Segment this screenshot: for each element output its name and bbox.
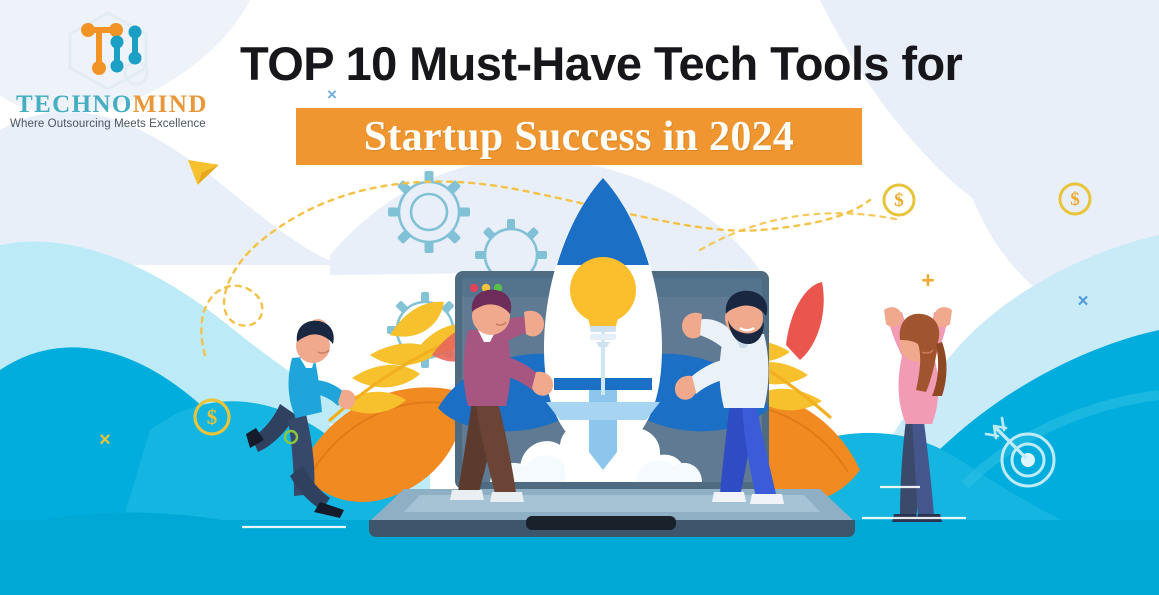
rocket-nose bbox=[557, 178, 649, 265]
headline-banner: Startup Success in 2024 bbox=[296, 108, 862, 165]
laptop-trackpad bbox=[526, 516, 676, 530]
brand-name-part-2: MIND bbox=[133, 91, 208, 118]
brand-name-part-1: TECHNO bbox=[16, 91, 133, 118]
brand-logo[interactable]: TECHNOMIND Where Outsourcing Meets Excel… bbox=[10, 8, 200, 128]
brand-tagline: Where Outsourcing Meets Excellence bbox=[10, 118, 202, 130]
running-man-character bbox=[246, 319, 355, 518]
x-mark-blue-icon: × bbox=[327, 85, 337, 105]
hexagon-node-network-icon bbox=[58, 10, 158, 92]
headline-line-2: Startup Success in 2024 bbox=[364, 116, 794, 158]
celebrating-woman-character bbox=[884, 307, 952, 522]
headline-line-1: TOP 10 Must-Have Tech Tools for bbox=[240, 40, 962, 87]
brand-wordmark: TECHNOMIND bbox=[16, 92, 198, 117]
blog-banner: $ $ $ × + × bbox=[0, 0, 1159, 595]
browser-dot-red bbox=[470, 284, 478, 292]
